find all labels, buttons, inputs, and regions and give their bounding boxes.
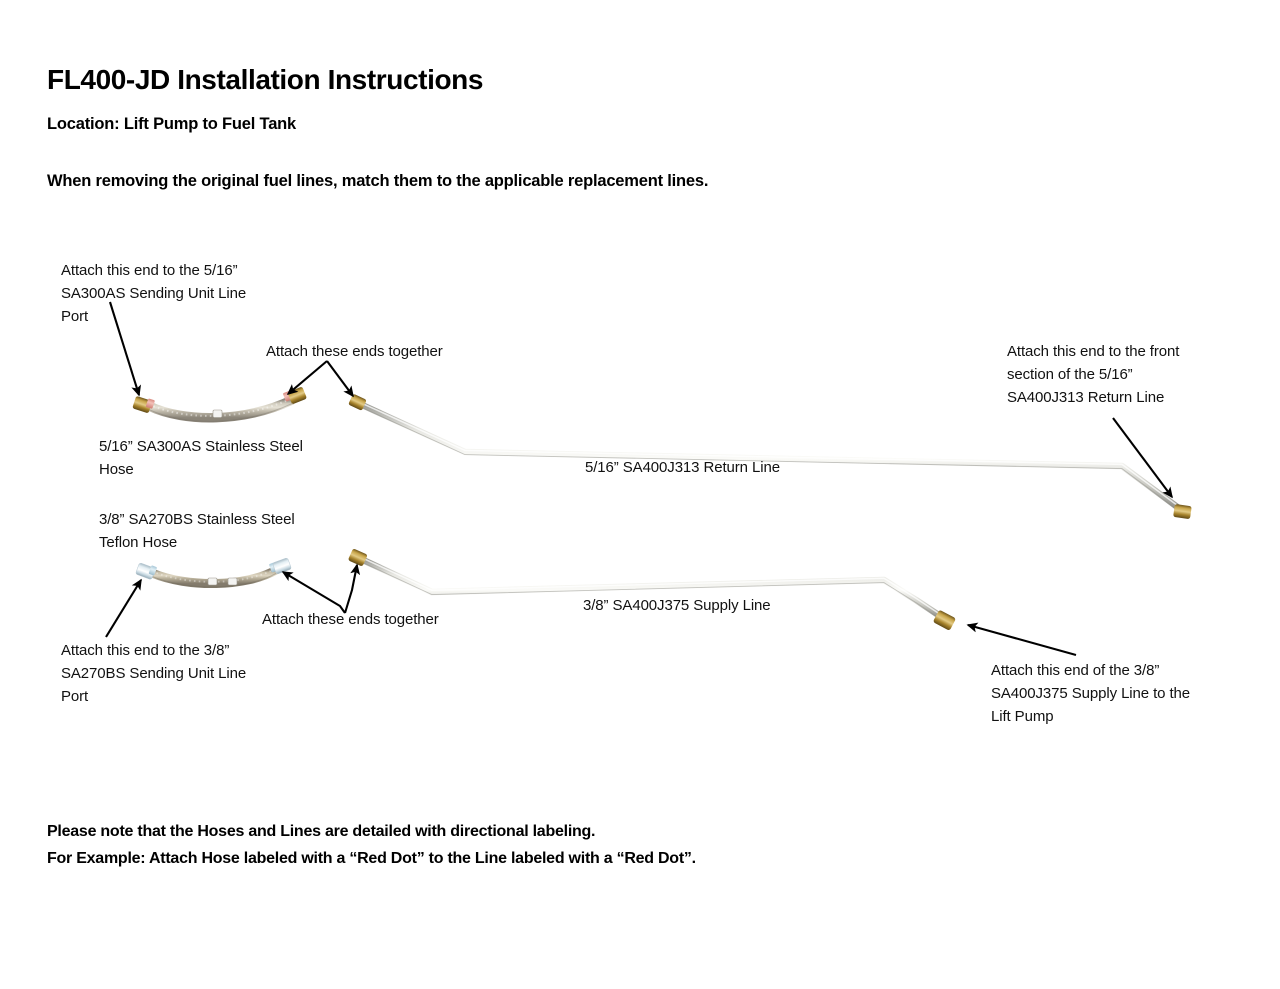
- arrow-upper-join-left: [288, 361, 327, 394]
- label-return-line: 5/16” SA400J313 Return Line: [585, 456, 780, 479]
- callout-lower-hose-end: Attach this end to the 3/8” SA270BS Send…: [61, 639, 246, 708]
- lower-hose-right-fitting: [269, 558, 292, 575]
- callout-supply-line-end: Attach this end of the 3/8” SA400J375 Su…: [991, 659, 1190, 728]
- arrow-lower-join-left: [283, 572, 345, 613]
- part-upper-hose-5-16-sa300as: [132, 386, 307, 421]
- supply-line-right-fitting: [933, 610, 956, 631]
- installation-instruction-page: FL400-JD Installation Instructions Locat…: [0, 0, 1280, 989]
- return-line-right-fitting: [1173, 504, 1192, 519]
- callout-lower-join: Attach these ends together: [262, 608, 439, 631]
- callout-return-line-end: Attach this end to the front section of …: [1007, 340, 1179, 409]
- upper-hose-left-fitting: [132, 396, 155, 414]
- arrow-return-line-end: [1113, 418, 1172, 497]
- upper-hose-right-fitting: [283, 386, 307, 404]
- page-title: FL400-JD Installation Instructions: [47, 64, 483, 96]
- callout-upper-join: Attach these ends together: [266, 340, 443, 363]
- arrow-lower-hose-end: [106, 580, 141, 637]
- footer-note: Please note that the Hoses and Lines are…: [47, 818, 696, 872]
- part-lower-hose-3-8-sa270bs: [135, 558, 291, 587]
- label-supply-line: 3/8” SA400J375 Supply Line: [583, 594, 771, 617]
- label-upper-hose: 5/16” SA300AS Stainless Steel Hose: [99, 435, 303, 481]
- location-subtitle: Location: Lift Pump to Fuel Tank: [47, 115, 296, 134]
- instruction-line: When removing the original fuel lines, m…: [47, 172, 708, 191]
- lower-hose-left-fitting: [135, 563, 157, 580]
- label-lower-hose: 3/8” SA270BS Stainless Steel Teflon Hose: [99, 508, 295, 554]
- return-line-left-fitting: [348, 394, 367, 411]
- part-supply-line-sa400j375: [348, 548, 956, 631]
- arrow-lower-join-right: [345, 565, 357, 613]
- arrow-upper-join-right: [327, 361, 353, 396]
- arrow-supply-line-end: [968, 625, 1076, 655]
- supply-line-left-fitting: [348, 548, 368, 566]
- callout-upper-hose-end: Attach this end to the 5/16” SA300AS Sen…: [61, 259, 246, 328]
